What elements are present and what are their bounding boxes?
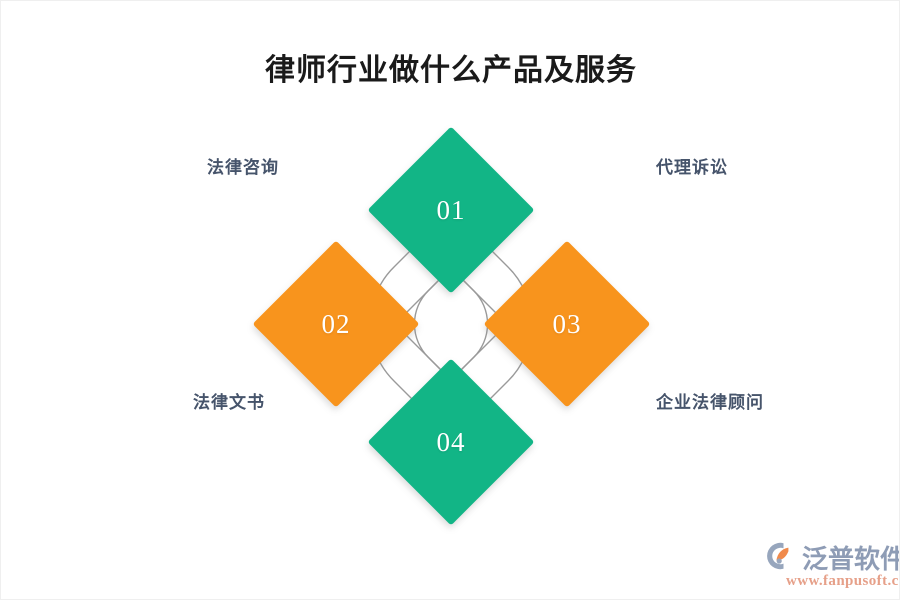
- node-label-legal-consulting: 法律咨询: [207, 153, 279, 178]
- watermark-brand-name: 泛普软件: [802, 539, 900, 576]
- watermark: 泛普软件 www.fanpusoft.com: [763, 537, 893, 593]
- diamond-number-02: 02: [277, 265, 395, 383]
- node-label-legal-documents: 法律文书: [193, 388, 265, 413]
- four-step-diamond-diagram: 01 02 03 04 法律咨询 法律文书 代理诉讼 企业法律顾问: [1, 1, 900, 600]
- diamond-number-03: 03: [508, 265, 626, 383]
- watermark-url: www.fanpusoft.com: [786, 573, 900, 590]
- fanpu-c-swoosh-logo-icon: [763, 541, 799, 571]
- diagram-page: 律师行业做什么产品及服务 01 02 03 04: [0, 0, 900, 600]
- diamond-number-01: 01: [392, 151, 510, 269]
- node-label-corporate-legal-advisor: 企业法律顾问: [656, 388, 764, 413]
- diamond-node-04[interactable]: 04: [368, 359, 535, 526]
- diamond-number-04: 04: [392, 383, 510, 501]
- node-label-agency-litigation: 代理诉讼: [656, 153, 728, 178]
